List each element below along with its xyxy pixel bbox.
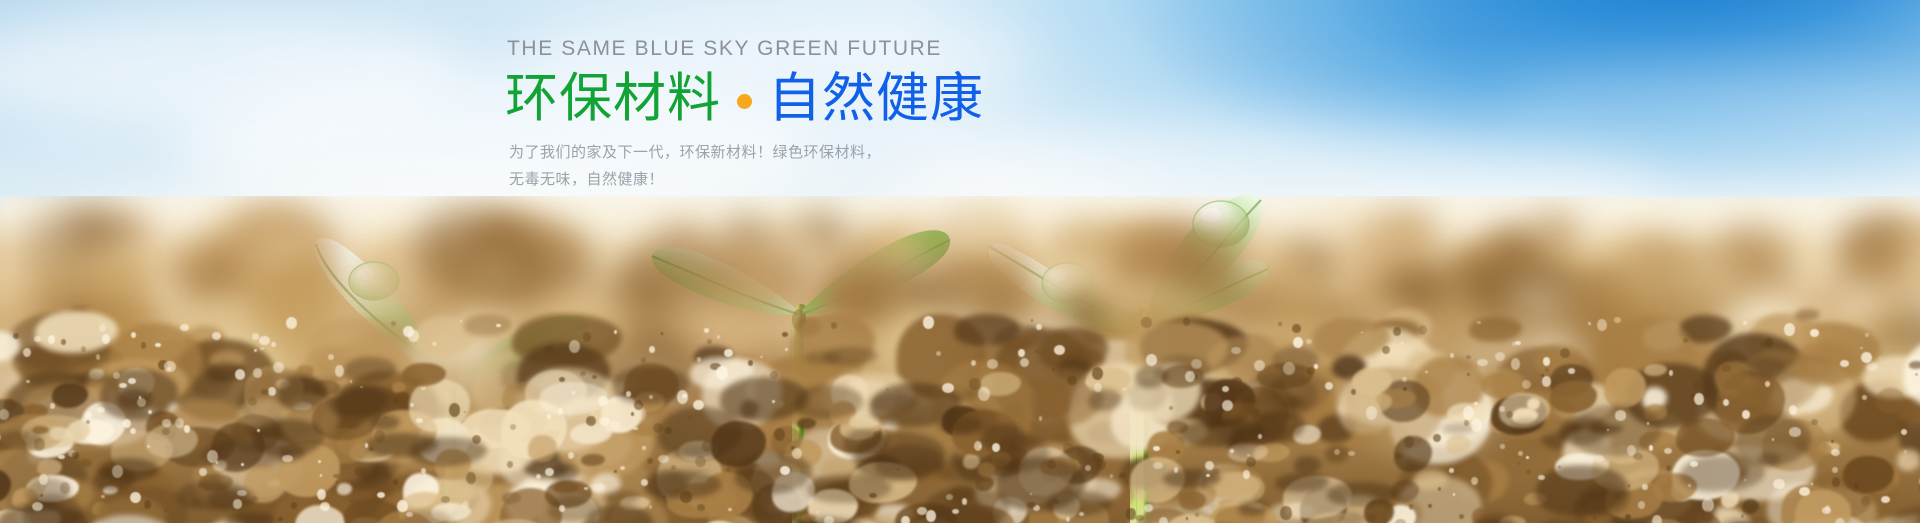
soil-clump: [1419, 325, 1427, 335]
soil-clump: [583, 332, 591, 342]
soil-clump: [796, 317, 821, 336]
soil-clump: [1765, 338, 1773, 348]
soil-clump: [408, 330, 419, 341]
soil-clump: [569, 340, 580, 353]
soil-clump: [1183, 317, 1190, 326]
soil-clump: [35, 311, 118, 354]
soil-clump: [1515, 341, 1520, 345]
soil-clump: [254, 349, 257, 352]
soil-clump: [1643, 323, 1686, 351]
soil-clump: [1433, 325, 1470, 348]
subtitle-line-1: 为了我们的家及下一代，环保新材料！绿色环保材料，: [509, 140, 1025, 166]
soil-clump: [704, 328, 709, 332]
soil-clump: [414, 317, 474, 356]
soil-clump: [831, 322, 837, 329]
soil-clump: [271, 342, 276, 347]
soil-clump: [1361, 332, 1363, 334]
soil-clump: [495, 324, 533, 349]
soil-clump: [782, 332, 788, 337]
soil-clump: [13, 333, 19, 339]
soil-clump: [48, 335, 55, 344]
subtitle-line-2: 无毒无味，自然健康！: [509, 167, 1025, 193]
soil-clump: [545, 346, 554, 352]
soil-clump: [1512, 342, 1516, 346]
soil-clump: [61, 339, 66, 344]
soil-clump: [717, 335, 721, 339]
soil-clump: [460, 320, 462, 322]
soil-clump: [1679, 315, 1732, 343]
soil-clump: [1141, 317, 1151, 327]
soil-clump: [81, 346, 86, 352]
soil-clump: [141, 342, 147, 349]
dot-separator-icon: [737, 94, 752, 109]
soil-clump: [1401, 342, 1403, 344]
soil-clump: [102, 334, 111, 344]
soil-clump: [1036, 324, 1042, 330]
soil-clump: [1031, 319, 1033, 322]
soil-clump: [1810, 329, 1820, 338]
soil-clump: [1469, 317, 1522, 342]
soil-clump: [1306, 339, 1312, 344]
soil-clump: [1299, 317, 1352, 354]
soil-clump: [1860, 347, 1863, 349]
soil-clump: [464, 314, 512, 336]
soil-clump: [1683, 338, 1688, 343]
soil-clump: [260, 347, 264, 350]
soil-clump: [1036, 316, 1091, 352]
soil-clump: [185, 326, 226, 356]
banner-headline: 环保材料 自然健康: [505, 69, 1025, 128]
headline-green-text: 环保材料: [505, 69, 721, 128]
soil-clump: [1588, 322, 1591, 325]
soil-clump: [1760, 340, 1767, 348]
soil-clump: [1728, 317, 1805, 357]
soil-clump: [131, 332, 136, 338]
soil-clump: [101, 317, 138, 339]
soil-clump: [450, 312, 517, 343]
soil-clump: [954, 314, 1020, 346]
soil-ground: [0, 196, 1920, 523]
soil-clump: [1278, 322, 1282, 326]
soil-clump: [1743, 321, 1747, 325]
soil-clump: [99, 324, 106, 332]
soil-clump: [1274, 315, 1312, 342]
soil-clump: [432, 342, 437, 346]
soil-horizon-haze: [0, 196, 1920, 316]
soil-clump: [34, 336, 41, 342]
headline-blue-text: 自然健康: [768, 69, 984, 128]
soil-clump: [707, 339, 712, 345]
soil-clump: [1477, 321, 1481, 324]
soil-clump: [180, 324, 189, 331]
soil-clump: [995, 325, 1049, 351]
soil-clump: [1393, 327, 1401, 336]
soil-clump: [252, 333, 259, 340]
soil-clump: [1293, 337, 1303, 348]
soil-clump: [923, 316, 935, 329]
soil-clump: [1359, 312, 1393, 341]
soil-clump: [1597, 319, 1607, 331]
soil-clump: [1784, 323, 1794, 336]
soil-clump: [0, 315, 35, 353]
soil-clump: [1614, 317, 1621, 323]
soil-clump: [403, 326, 413, 337]
soil-clump: [259, 336, 270, 345]
banner-copy: THE SAME BLUE SKY GREEN FUTURE 环保材料 自然健康…: [505, 38, 1025, 193]
soil-clump: [212, 332, 220, 340]
soil-clump: [155, 343, 160, 347]
soil-clump: [1169, 314, 1212, 353]
soil-clump: [391, 321, 397, 326]
hero-banner: THE SAME BLUE SKY GREEN FUTURE 环保材料 自然健康…: [0, 0, 1920, 523]
banner-subtitle: 为了我们的家及下一代，环保新材料！绿色环保材料， 无毒无味，自然健康！: [509, 140, 1025, 193]
soil-clump: [1028, 312, 1067, 343]
soil-bottom-shadow: [0, 353, 1920, 523]
soil-clump: [614, 330, 617, 334]
soil-clump: [496, 324, 501, 328]
soil-clump: [661, 332, 663, 334]
soil-clump: [1371, 319, 1421, 345]
soil-clump: [785, 348, 788, 351]
banner-eyebrow: THE SAME BLUE SKY GREEN FUTURE: [507, 38, 1025, 59]
soil-clump: [1865, 333, 1869, 337]
soil-clump: [1292, 324, 1301, 332]
soil-clump: [286, 317, 297, 329]
